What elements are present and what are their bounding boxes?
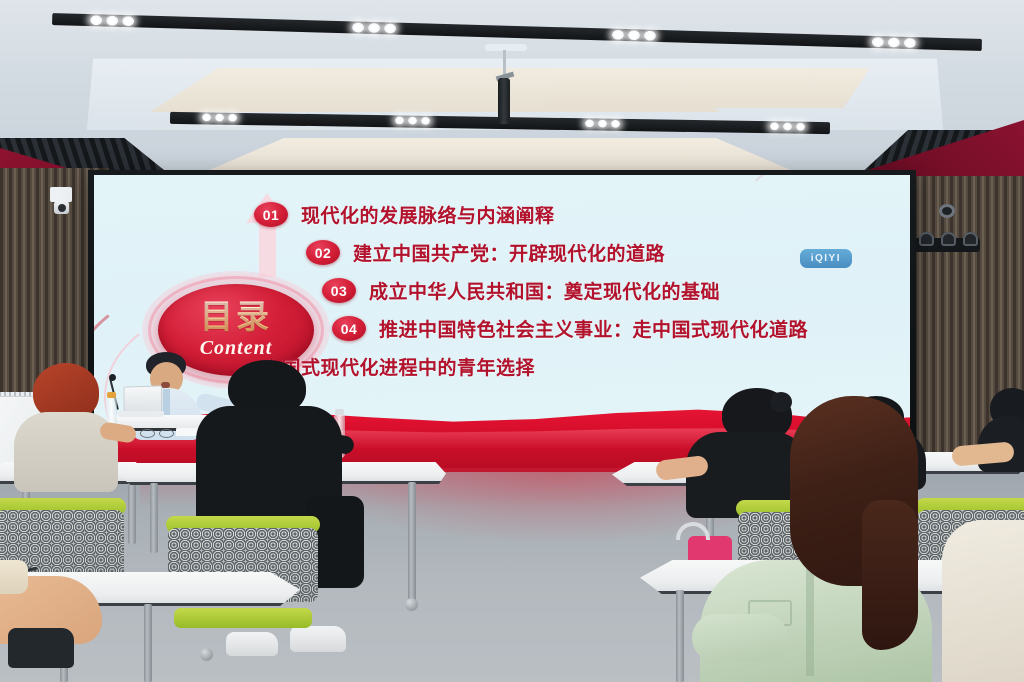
agenda-number-badge: 01: [254, 202, 288, 227]
audience-hair-bun: [770, 392, 792, 412]
spotlight: [368, 23, 380, 33]
spotlight: [352, 22, 364, 32]
chair-seat: [174, 608, 312, 628]
classroom-scene: 目录 Content 01 现代化的发展脉络与内涵阐释 02 建立中国共产党：开…: [0, 0, 1024, 682]
wall-camera-icon: [939, 204, 955, 218]
agenda-item-text: 建立中国共产党：开辟现代化的道路: [353, 239, 665, 266]
wall-speaker-icon: [963, 232, 978, 246]
spotlight: [228, 114, 237, 122]
table-leg: [408, 482, 416, 602]
eyeglasses: [140, 429, 174, 436]
table-leg: [150, 483, 158, 553]
agenda-number-badge: 02: [306, 240, 340, 265]
spotlight: [796, 123, 805, 131]
spotlight: [598, 120, 607, 128]
spotlight: [904, 38, 916, 48]
spotlight: [612, 30, 624, 40]
agenda-item[interactable]: 01 现代化的发展脉络与内涵阐释: [254, 201, 904, 228]
spotlight: [90, 15, 102, 25]
security-camera-lens: [58, 204, 66, 212]
security-camera-mount: [50, 187, 72, 202]
projector-ceiling-plate: [485, 44, 527, 51]
spotlight: [628, 30, 640, 40]
audience-top: [942, 520, 1024, 682]
spotlight: [106, 16, 118, 26]
table-leg: [144, 604, 152, 682]
ceiling-recess-2: [540, 68, 870, 108]
spotlight: [215, 114, 224, 122]
agenda-item-text: 推进中国特色社会主义事业：走中国式现代化道路: [379, 315, 808, 342]
spotlight: [872, 37, 884, 47]
audience-hair-strand: [862, 500, 918, 650]
audience-shoe: [226, 632, 278, 656]
spotlight: [122, 16, 134, 26]
spotlight: [644, 31, 656, 41]
table-mid-right: [330, 462, 446, 484]
spotlight: [384, 23, 396, 33]
spotlight: [770, 122, 779, 130]
spotlight: [408, 117, 417, 125]
audience-arm: [692, 614, 788, 662]
agenda-final-line-row[interactable]: 中国式现代化进程中的青年选择: [262, 353, 904, 380]
spotlight: [421, 117, 430, 125]
ceiling: [0, 0, 1024, 190]
slide-agenda-list: 01 现代化的发展脉络与内涵阐释 02 建立中国共产党：开辟现代化的道路 03 …: [244, 201, 904, 391]
agenda-item-text: 现代化的发展脉络与内涵阐释: [301, 201, 555, 228]
microphone-icon: [109, 374, 116, 381]
wall-speaker-icon: [941, 232, 956, 246]
laptop-keyboard[interactable]: [117, 411, 164, 417]
bottle-cap: [335, 409, 344, 415]
agenda-item[interactable]: 04 推进中国特色社会主义事业：走中国式现代化道路: [332, 315, 904, 342]
agenda-item-text: 成立中华人民共和国：奠定现代化的基础: [369, 277, 720, 304]
spotlight: [585, 119, 594, 127]
spotlight: [395, 116, 404, 124]
agenda-number-badge: 04: [332, 316, 366, 341]
chair-caster: [200, 648, 213, 661]
audience-shoe: [8, 628, 74, 668]
spotlight: [783, 122, 792, 130]
table-caster: [405, 598, 418, 611]
agenda-final-line: 中国式现代化进程中的青年选择: [262, 353, 535, 380]
projector-body: [498, 78, 510, 124]
bottle-cap: [107, 392, 116, 398]
laptop-screen[interactable]: [124, 385, 163, 413]
spotlight: [888, 37, 900, 47]
agenda-number-badge: 03: [322, 278, 356, 303]
audience-top: [0, 560, 28, 594]
wall-speaker-icon: [919, 232, 934, 246]
table-leg: [128, 482, 136, 544]
agenda-item[interactable]: 03 成立中华人民共和国：奠定现代化的基础: [322, 277, 904, 304]
iqiyi-watermark: iQIYI: [800, 249, 852, 268]
projector-rod: [503, 50, 506, 76]
table-leg: [676, 590, 684, 682]
ceiling-recess-3: [200, 138, 800, 174]
spotlight: [611, 120, 620, 128]
audience-shoe: [290, 626, 346, 652]
spotlight: [202, 113, 211, 121]
